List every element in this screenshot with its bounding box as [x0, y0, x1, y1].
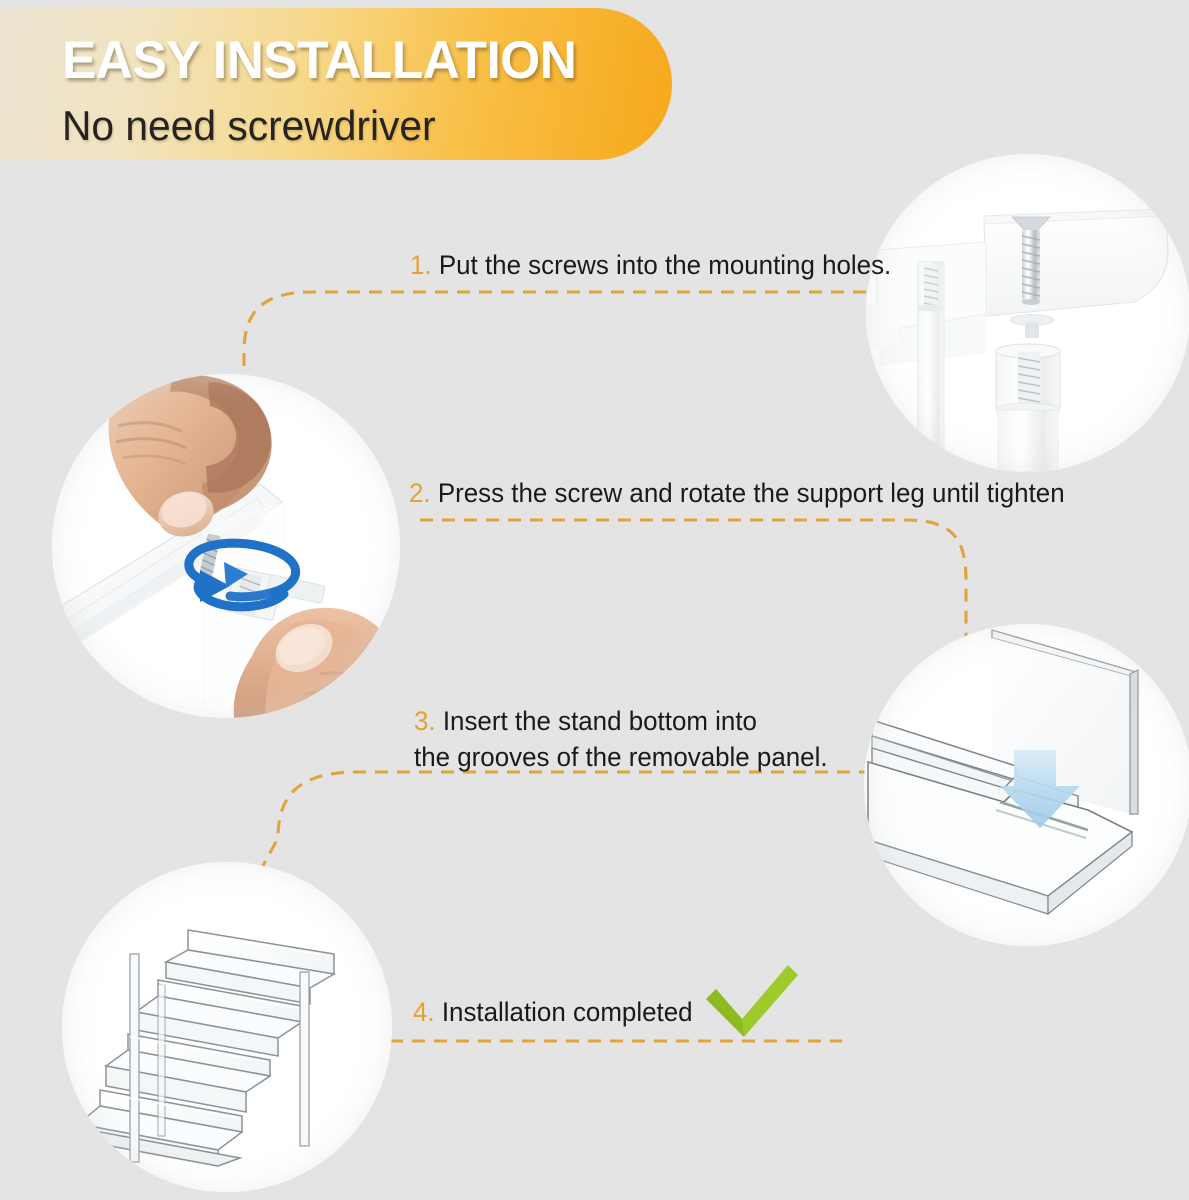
step-1-number: 1. — [410, 250, 432, 280]
header-banner: EASY INSTALLATION No need screwdriver — [0, 8, 672, 160]
step-3-text: 3. Insert the stand bottom into the groo… — [414, 704, 828, 775]
step-1-photo — [866, 154, 1189, 472]
page-title: EASY INSTALLATION — [62, 30, 576, 91]
step-2-photo — [52, 374, 400, 718]
step-3-photo — [864, 624, 1189, 946]
insert-stand-into-grooves-illustration — [864, 624, 1189, 946]
step-4-number: 4. — [413, 997, 435, 1027]
step-4-label: Installation completed — [442, 997, 693, 1027]
finished-acrylic-riser-illustration — [62, 862, 392, 1192]
step-2-number: 2. — [409, 478, 431, 508]
screws-into-mounting-holes-illustration — [866, 154, 1189, 472]
step-2-label: Press the screw and rotate the support l… — [438, 478, 1065, 508]
step-4-text: 4. Installation completed — [413, 995, 693, 1031]
step-1-label: Put the screws into the mounting holes. — [439, 250, 891, 280]
infographic-stage: EASY INSTALLATION No need screwdriver — [0, 0, 1189, 1200]
page-subtitle: No need screwdriver — [62, 102, 436, 150]
check-icon — [702, 963, 802, 1041]
step-3-number: 3. — [414, 706, 436, 736]
connector-step-2 — [420, 520, 966, 640]
step-3-label-line2: the grooves of the removable panel. — [414, 740, 828, 776]
step-3-label-line1: Insert the stand bottom into — [443, 706, 757, 736]
step-2-text: 2. Press the screw and rotate the suppor… — [409, 476, 1065, 512]
hand-rotating-support-leg-illustration — [52, 374, 400, 718]
support-leg-left — [918, 262, 944, 472]
step-4-photo — [62, 862, 392, 1192]
support-leg-lower — [996, 344, 1060, 472]
step-1-text: 1. Put the screws into the mounting hole… — [410, 248, 891, 284]
